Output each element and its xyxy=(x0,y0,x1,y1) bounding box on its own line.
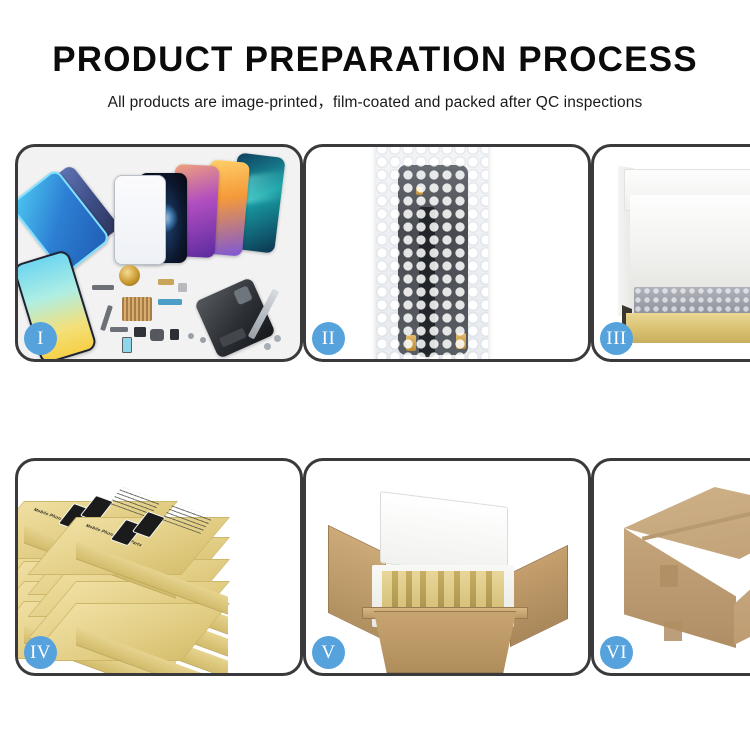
step-panel-2[interactable]: II xyxy=(303,144,591,362)
scene-carton-with-liner xyxy=(306,461,588,673)
step-badge-1: I xyxy=(24,322,57,355)
gold-connector xyxy=(416,187,423,195)
page-header: PRODUCT PREPARATION PROCESS All products… xyxy=(0,0,750,112)
spare-part xyxy=(150,329,164,341)
step-panel-5[interactable]: V xyxy=(303,458,591,676)
step-cell-5: V xyxy=(303,458,591,676)
carton-front-panel xyxy=(364,611,526,673)
spare-part xyxy=(134,327,146,337)
spare-part xyxy=(178,283,187,292)
foam-sheet xyxy=(630,195,750,291)
box-stack: Mobile Phone Spare Parts Mobile Phone Sp… xyxy=(24,475,300,673)
step-panel-3[interactable]: III xyxy=(591,144,750,362)
screen-flex-cable xyxy=(419,207,435,357)
spare-part xyxy=(170,329,179,340)
gold-connector xyxy=(406,335,416,351)
step-badge-3: III xyxy=(600,322,633,355)
step-badge-4: IV xyxy=(24,636,57,669)
shipping-carton xyxy=(620,487,750,659)
retail-box xyxy=(76,603,228,673)
spare-part xyxy=(188,333,194,339)
box-front-panel xyxy=(626,313,750,343)
speaker-coil-part xyxy=(119,265,140,286)
page-title: PRODUCT PREPARATION PROCESS xyxy=(0,40,750,80)
scene-stacked-retail-boxes: Mobile Phone Spare Parts Mobile Phone Sp… xyxy=(18,461,300,673)
step-panel-4[interactable]: Mobile Phone Spare Parts Mobile Phone Sp… xyxy=(15,458,303,676)
spare-part xyxy=(200,337,206,343)
scene-bubble-wrapped-screen xyxy=(306,147,588,359)
retail-box-printed: Mobile Phone Spare Parts xyxy=(76,517,228,609)
spare-part xyxy=(158,279,174,285)
step-cell-1: I xyxy=(15,144,303,362)
scene-phones-and-parts xyxy=(18,147,300,359)
page-subtitle: All products are image-printed，film-coat… xyxy=(0,90,750,112)
carton-flap-right xyxy=(510,545,568,647)
step-cell-2: II xyxy=(303,144,591,362)
step-cell-4: Mobile Phone Spare Parts Mobile Phone Sp… xyxy=(15,458,303,676)
step-badge-6: VI xyxy=(600,636,633,669)
step-badge-5: V xyxy=(312,636,345,669)
step-panel-1[interactable]: I xyxy=(15,144,303,362)
spare-part xyxy=(264,343,271,350)
spare-part xyxy=(92,285,114,290)
spare-part xyxy=(110,327,128,332)
spare-part xyxy=(158,299,182,305)
tempered-glass-protector xyxy=(114,175,166,265)
spare-part xyxy=(274,335,281,342)
process-step-grid: I II xyxy=(15,144,735,676)
gold-connector xyxy=(456,333,466,349)
spare-part xyxy=(122,337,132,353)
step-badge-2: II xyxy=(312,322,345,355)
step-cell-6: VI xyxy=(591,458,750,676)
step-panel-6[interactable]: VI xyxy=(591,458,750,676)
step-cell-3: III xyxy=(591,144,750,362)
logic-board-part xyxy=(122,297,152,321)
carton-tape-upper xyxy=(660,565,678,587)
carton-tape-lower xyxy=(664,621,682,641)
